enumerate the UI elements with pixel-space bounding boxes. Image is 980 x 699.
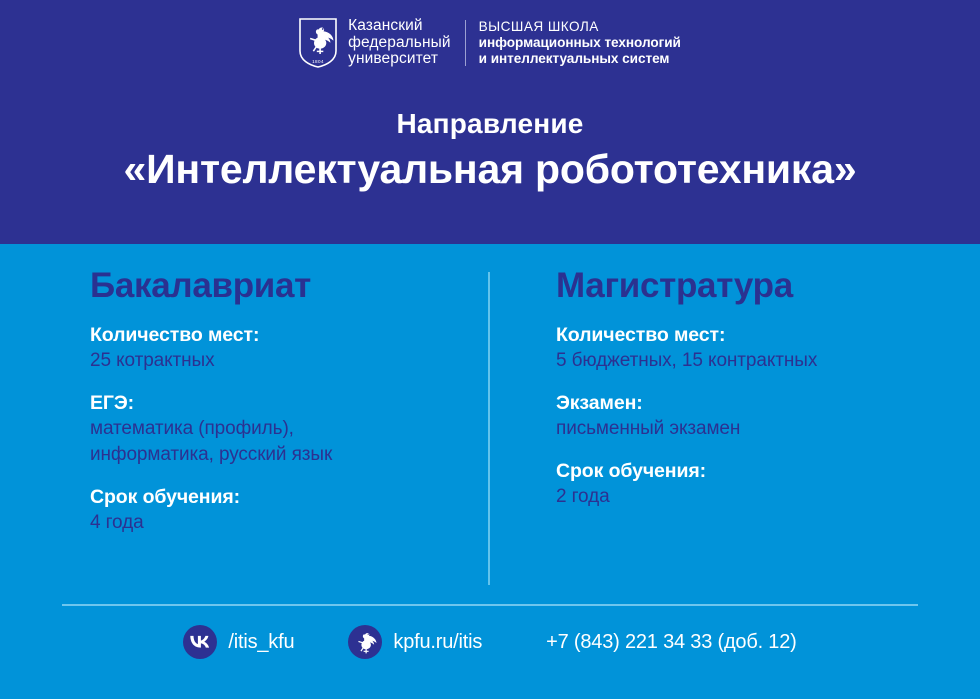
- footer-contacts: /itis_kfu kpfu.ru/itis +7 (843) 221 34 3…: [0, 625, 980, 659]
- logo-school-line-2: информационных технологий: [479, 35, 681, 51]
- logo-university-name: Казанский федеральный университет: [348, 18, 451, 68]
- footer-phone[interactable]: +7 (843) 221 34 33 (доб. 12): [546, 631, 796, 654]
- footer-phone-label: +7 (843) 221 34 33 (доб. 12): [546, 631, 796, 654]
- logo-university-line-3: университет: [348, 51, 451, 68]
- svg-text:1804: 1804: [312, 59, 324, 64]
- header-banner: 1804 Казанский федеральный университет В…: [0, 0, 980, 244]
- footer-link-vk[interactable]: /itis_kfu: [183, 625, 294, 659]
- field-label: ЕГЭ:: [90, 391, 470, 416]
- body-area: Бакалавриат Количество мест: 25 котрактн…: [0, 244, 980, 699]
- field-value: 4 года: [90, 510, 470, 536]
- poster-root: 1804 Казанский федеральный университет В…: [0, 0, 980, 699]
- kfu-logo-lockup: 1804 Казанский федеральный университет В…: [0, 18, 980, 68]
- field-label: Экзамен:: [556, 391, 956, 416]
- footer-link-site-label: kpfu.ru/itis: [393, 631, 482, 654]
- vk-icon: [183, 625, 217, 659]
- column-master: Магистратура Количество мест: 5 бюджетны…: [556, 266, 956, 510]
- footer-link-site[interactable]: kpfu.ru/itis: [348, 625, 482, 659]
- field-master-places: Количество мест: 5 бюджетных, 15 контрак…: [556, 323, 956, 374]
- logo-university-line-1: Казанский: [348, 18, 451, 35]
- footer-link-vk-label: /itis_kfu: [228, 631, 294, 654]
- field-label: Срок обучения:: [556, 459, 956, 484]
- field-value: 25 котрактных: [90, 348, 470, 374]
- field-value: 2 года: [556, 484, 956, 510]
- logo-school-name: ВЫСШАЯ ШКОЛА информационных технологий и…: [479, 19, 681, 68]
- kfu-crest-icon: [348, 625, 382, 659]
- field-bachelor-ege: ЕГЭ: математика (профиль), информатика, …: [90, 391, 470, 468]
- field-value: математика (профиль), информатика, русск…: [90, 416, 470, 468]
- kfu-crest-icon: 1804: [299, 18, 337, 68]
- field-label: Количество мест:: [90, 323, 470, 348]
- column-bachelor: Бакалавриат Количество мест: 25 котрактн…: [90, 266, 470, 536]
- field-bachelor-duration: Срок обучения: 4 года: [90, 485, 470, 536]
- column-title-master: Магистратура: [556, 266, 956, 306]
- column-divider: [488, 272, 490, 585]
- field-master-exam: Экзамен: письменный экзамен: [556, 391, 956, 442]
- logo-school-line-3: и интеллектуальных систем: [479, 51, 681, 67]
- logo-university-line-2: федеральный: [348, 35, 451, 52]
- logo-school-line-1: ВЫСШАЯ ШКОЛА: [479, 19, 681, 35]
- field-label: Срок обучения:: [90, 485, 470, 510]
- field-value: письменный экзамен: [556, 416, 956, 442]
- field-value: 5 бюджетных, 15 контрактных: [556, 348, 956, 374]
- title-kicker: Направление: [0, 108, 980, 140]
- page-title: «Интеллектуальная робототехника»: [0, 146, 980, 193]
- field-bachelor-places: Количество мест: 25 котрактных: [90, 323, 470, 374]
- logo-divider: [465, 20, 466, 66]
- field-label: Количество мест:: [556, 323, 956, 348]
- field-master-duration: Срок обучения: 2 года: [556, 459, 956, 510]
- column-title-bachelor: Бакалавриат: [90, 266, 470, 306]
- footer-divider: [62, 604, 918, 606]
